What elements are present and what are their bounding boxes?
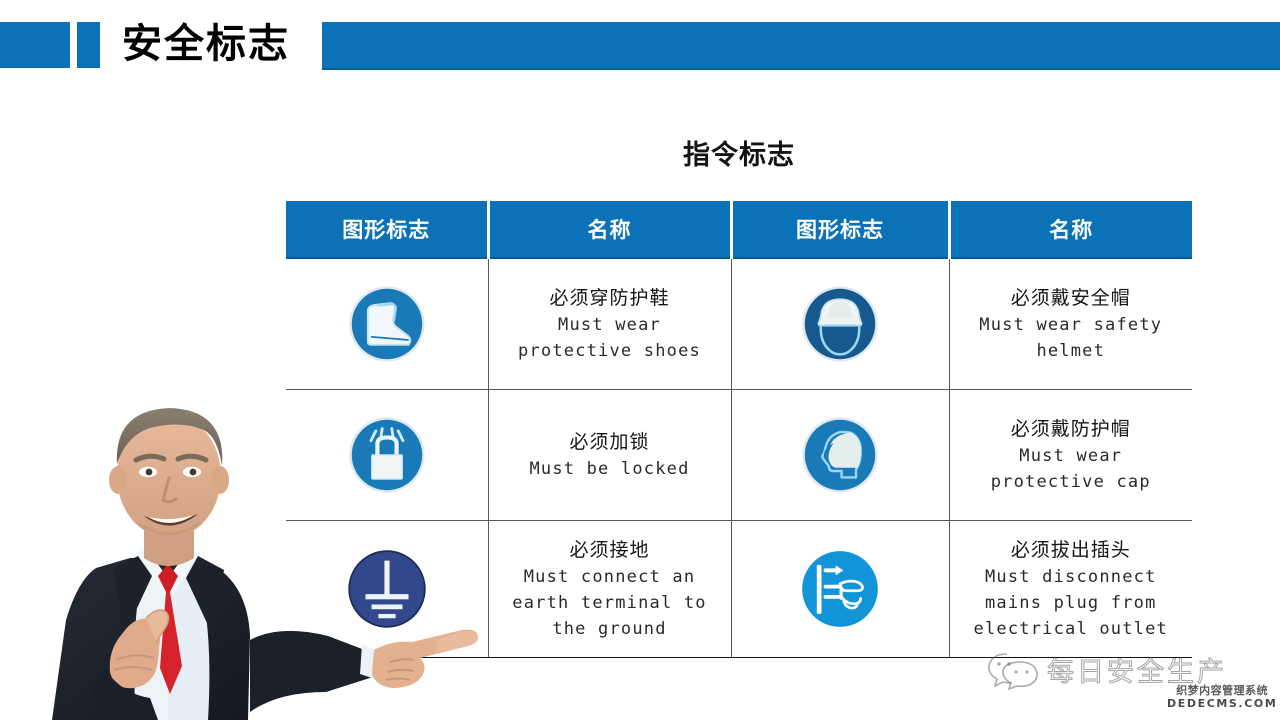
protective-shoes-icon xyxy=(347,284,427,364)
sign-name-en: Must be locked xyxy=(489,456,731,482)
sign-name-en: Must disconnect mains plug from electric… xyxy=(950,564,1193,642)
sign-name-cell: 必须戴防护帽 Must wear protective cap xyxy=(949,390,1192,521)
sign-name-cell: 必须加锁 Must be locked xyxy=(488,390,731,521)
sign-name-en: Must wear safety helmet xyxy=(950,312,1193,364)
sign-name-zh: 必须戴防护帽 xyxy=(950,416,1193,443)
header-accent-block-tick xyxy=(77,22,100,68)
dedecms-watermark-zh: 织梦内容管理系统 xyxy=(1167,684,1277,697)
table-header-row: 图形标志 名称 图形标志 名称 xyxy=(286,201,1192,258)
protective-cap-icon xyxy=(800,415,880,495)
table-row: 必须加锁 Must be locked 必须戴防护帽 Must wear pro… xyxy=(286,390,1192,521)
businessman-photo xyxy=(18,368,318,720)
dedecms-watermark: 织梦内容管理系统 DEDECMS.COM xyxy=(1167,684,1277,710)
sign-icon-cell xyxy=(731,258,949,390)
sign-name-cell: 必须接地 Must connect an earth terminal to t… xyxy=(488,521,731,658)
header-accent-block-left xyxy=(0,22,70,68)
sign-name-en: Must wear protective shoes xyxy=(489,312,731,364)
sign-name-cell: 必须拔出插头 Must disconnect mains plug from e… xyxy=(949,521,1192,658)
sign-name-cell: 必须穿防护鞋 Must wear protective shoes xyxy=(488,258,731,390)
earth-ground-icon xyxy=(344,546,430,632)
column-header-name-2: 名称 xyxy=(949,201,1192,258)
sign-icon-cell xyxy=(286,521,488,658)
column-header-name-1: 名称 xyxy=(488,201,731,258)
padlock-icon xyxy=(347,415,427,495)
disconnect-mains-plug-icon xyxy=(797,546,883,632)
sign-icon-cell xyxy=(731,521,949,658)
column-header-graphic-2: 图形标志 xyxy=(731,201,949,258)
sign-icon-cell xyxy=(286,390,488,521)
sign-icon-cell xyxy=(286,258,488,390)
sign-name-zh: 必须穿防护鞋 xyxy=(489,285,731,312)
sign-name-en: Must connect an earth terminal to the gr… xyxy=(489,564,731,642)
dedecms-watermark-en: DEDECMS.COM xyxy=(1167,697,1277,710)
mandatory-signs-table: 图形标志 名称 图形标志 名称 必须穿防护鞋 xyxy=(286,201,1192,658)
header-band: 安全标志 xyxy=(0,0,1280,88)
section-title: 指令标志 xyxy=(286,133,1192,172)
sign-name-zh: 必须戴安全帽 xyxy=(950,285,1193,312)
sign-name-en: Must wear protective cap xyxy=(950,443,1193,495)
sign-name-zh: 必须加锁 xyxy=(489,429,731,456)
safety-helmet-icon xyxy=(800,284,880,364)
column-header-graphic-1: 图形标志 xyxy=(286,201,488,258)
sign-icon-cell xyxy=(731,390,949,521)
table-row: 必须穿防护鞋 Must wear protective shoes 必须戴安 xyxy=(286,258,1192,390)
header-accent-bar-right xyxy=(322,22,1280,70)
sign-name-cell: 必须戴安全帽 Must wear safety helmet xyxy=(949,258,1192,390)
page-title: 安全标志 xyxy=(122,16,290,72)
sign-name-zh: 必须拔出插头 xyxy=(950,537,1193,564)
table-row: 必须接地 Must connect an earth terminal to t… xyxy=(286,521,1192,658)
sign-name-zh: 必须接地 xyxy=(489,537,731,564)
